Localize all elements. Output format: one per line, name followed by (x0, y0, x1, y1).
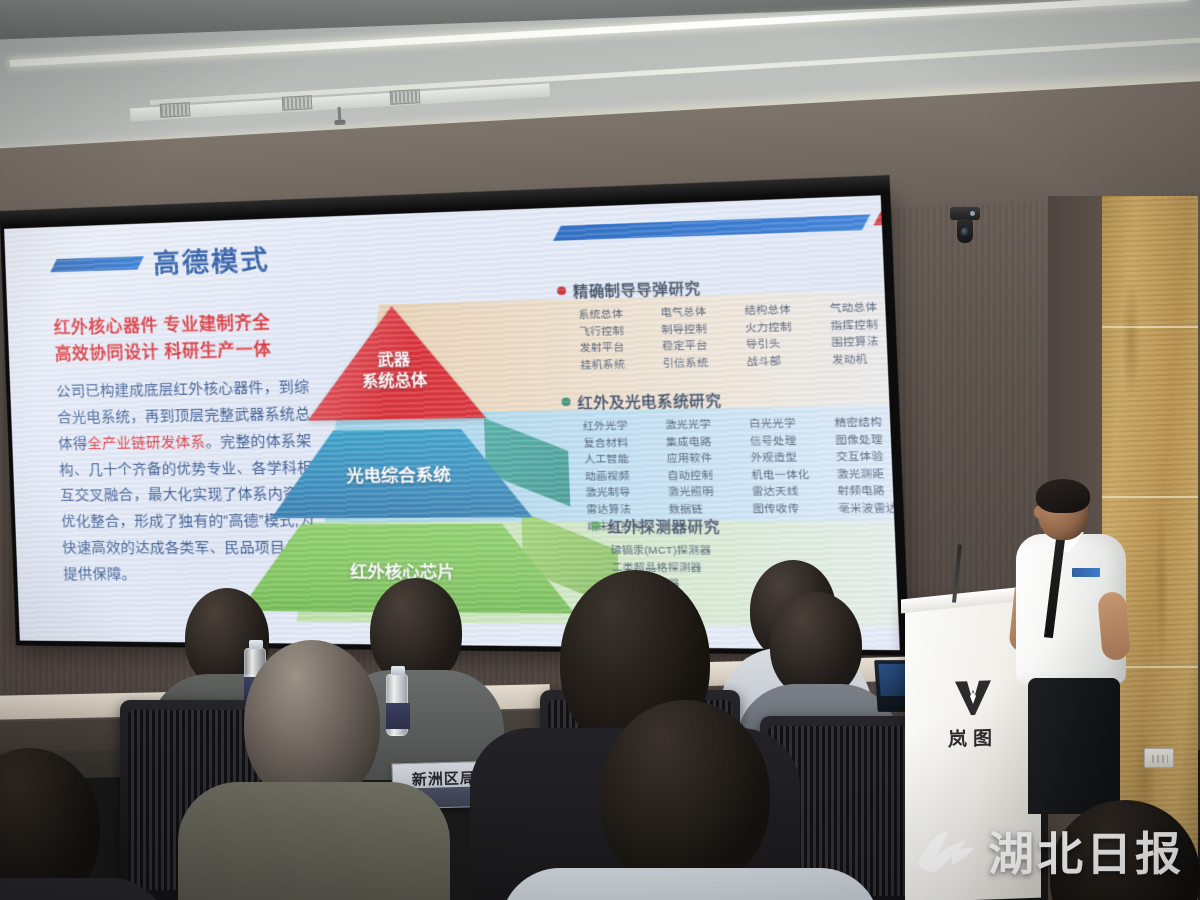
body-highlight: 全产业链研发体系 (87, 434, 206, 452)
term: 发射平台 (580, 340, 656, 356)
term: 火力控制 (745, 319, 824, 336)
term: 激光制导 (585, 486, 661, 501)
term: 指挥控制 (830, 317, 899, 334)
ceiling-camera-icon (957, 219, 973, 243)
term: 集成电路 (666, 434, 743, 450)
term: 结构总体 (744, 302, 823, 319)
panel-heading: 红外探测器研究 (591, 514, 900, 537)
person-head (244, 640, 380, 804)
red-bullet-icon (557, 286, 566, 295)
term: 激光照明 (668, 485, 746, 500)
term: 激光测距 (837, 467, 900, 483)
term: 自动控制 (667, 468, 745, 483)
dkgreen-bullet-icon (591, 521, 600, 530)
term: 图像处理 (835, 432, 900, 448)
ceiling-vent-icon (390, 89, 421, 105)
wall-outlet[interactable] (1144, 748, 1174, 768)
term: 红外光学 (583, 419, 659, 435)
term: 应用软件 (666, 451, 743, 467)
person-head (770, 592, 862, 698)
presenter-hair (1036, 479, 1090, 513)
term: 精密结构 (834, 415, 899, 431)
term: 引信系统 (663, 355, 740, 371)
conference-room-photo: 高德模式 红外核心器件 专业建制齐全 高效协同设计 科研生产一体 公司已构建成底… (0, 0, 1200, 900)
term: 发动机 (832, 352, 900, 369)
term: 外观造型 (750, 451, 829, 467)
presenter-ear (1034, 506, 1042, 518)
term: 射频电路 (837, 484, 899, 500)
term: 飞行控制 (579, 323, 655, 339)
pyramid-label-top-line2: 系统总体 (349, 370, 441, 393)
hubei-daily-logo (914, 823, 978, 879)
ceiling-vent-icon (160, 102, 191, 118)
term: 挂机系统 (580, 357, 656, 373)
term: 系统总体 (578, 306, 654, 323)
term: 战斗部 (746, 353, 825, 369)
term: 交互体验 (836, 450, 900, 466)
term: 雷达天线 (752, 485, 831, 500)
panel-term-grid: 系统总体 电气总体 结构总体 气动总体 飞行控制 制导控制 火力控制 指挥控制 … (558, 300, 900, 374)
term: 电气总体 (660, 304, 737, 321)
research-panel-infrared-optoelectronic: 红外及光电系统研究 红外光学 激光光学 白光光学 精密结构 复合材料 集成电路 … (561, 385, 900, 535)
title-accent-bar (50, 256, 144, 272)
research-panel-missile: 精确制导导弹研究 系统总体 电气总体 结构总体 气动总体 飞行控制 制导控制 火… (557, 270, 900, 374)
term: 碲镉汞(MCT)探测器 (610, 544, 899, 559)
term: 动画视频 (585, 469, 661, 484)
presenter-shirt-logo (1072, 568, 1100, 577)
panel-title: 红外探测器研究 (607, 515, 720, 537)
person-shoulders (500, 868, 880, 900)
panel-heading: 精确制导导弹研究 (557, 270, 900, 302)
pyramid-label-middle: 光电综合系统 (312, 460, 487, 487)
term: 稳定平台 (662, 338, 739, 354)
term: 信号处理 (750, 433, 829, 449)
watermark: 湖北日报 (914, 818, 1184, 884)
voyah-wing-logo (951, 677, 995, 719)
panel-title: 精确制导导弹研究 (572, 276, 700, 301)
watermark-text: 湖北日报 (988, 818, 1184, 884)
camera-lens-icon (961, 227, 969, 238)
water-bottle (386, 674, 408, 736)
term: 导引头 (746, 336, 825, 353)
presenter-trousers (1028, 678, 1120, 814)
term: 白光光学 (749, 416, 828, 432)
header-deco-blue-bar (553, 214, 870, 240)
term: 气动总体 (830, 300, 900, 317)
green-bullet-icon (561, 397, 570, 406)
term: 制导控制 (661, 321, 738, 338)
ceiling-vent-icon (282, 95, 313, 111)
presenter-person (1010, 482, 1140, 812)
term: 机电一体化 (751, 468, 830, 484)
term: 复合材料 (583, 435, 659, 451)
pyramid-label-top: 武器 系统总体 (348, 349, 441, 393)
person-shoulders (178, 782, 450, 900)
person-head (600, 700, 770, 890)
term: 围控算法 (831, 334, 900, 351)
term: 人工智能 (584, 452, 660, 467)
pyramid-label-top-line1: 武器 (348, 349, 440, 372)
term: 激光光学 (665, 417, 742, 433)
slide-title: 高德模式 (152, 239, 270, 281)
panel-title: 红外及光电系统研究 (577, 388, 722, 412)
